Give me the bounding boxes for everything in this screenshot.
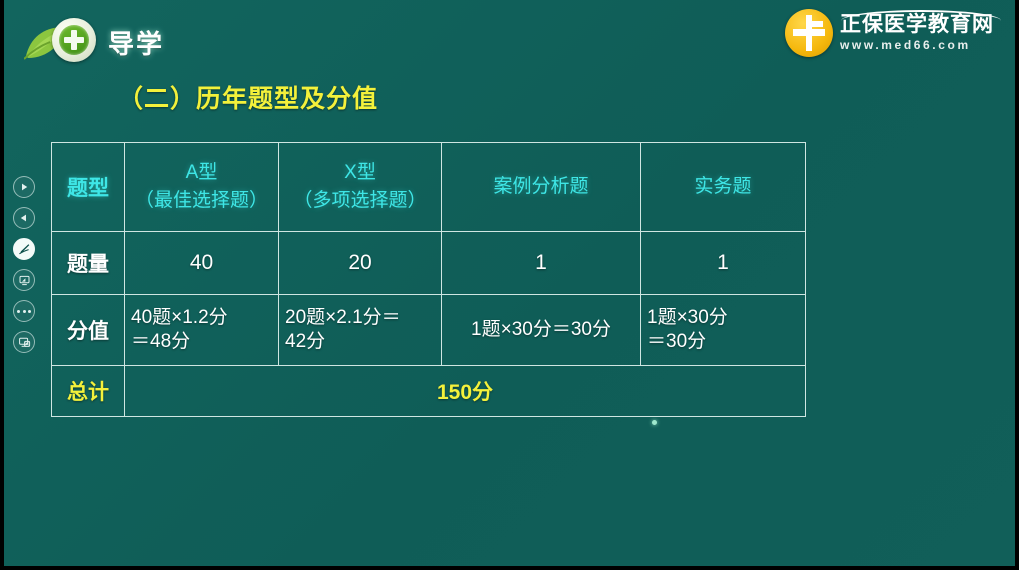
brand-title: 导学 — [108, 24, 164, 61]
header-cell-case-analysis: 案例分析题 — [442, 143, 641, 232]
header-cell-a-type: A型 （最佳选择题） — [125, 143, 279, 232]
screen-icon[interactable] — [13, 269, 35, 291]
header-cell-a-type-line1: A型 — [186, 162, 218, 183]
count-cell-x-type: 20 — [279, 232, 442, 295]
logo-swoosh-decoration — [841, 10, 1001, 25]
row-header-question-count: 题量 — [52, 232, 125, 295]
screen-share-icon[interactable] — [13, 331, 35, 353]
more-icon[interactable] — [13, 300, 35, 322]
slide-canvas: 导学 正保医学教育网 www.med66.com （二）历年题型及分值 题型 A… — [4, 0, 1015, 566]
header-cell-practical-line1: 实务题 — [694, 176, 751, 197]
score-cell-x-type: 20题×2.1分＝ 42分 — [279, 295, 442, 366]
header-cell-x-type-line1: X型 — [344, 162, 376, 183]
table-row-total: 总计 150分 — [52, 366, 806, 417]
row-header-score-value: 分值 — [52, 295, 125, 366]
row-header-total: 总计 — [52, 366, 125, 417]
score-cell-a-type-line2: ＝48分 — [131, 331, 190, 352]
header-cell-x-type-line2: （多项选择题） — [285, 187, 435, 215]
score-cell-x-type-line1: 20题×2.1分＝ — [285, 307, 401, 328]
play-icon[interactable] — [13, 176, 35, 198]
score-cell-a-type: 40题×1.2分 ＝48分 — [125, 295, 279, 366]
logo-url: www.med66.com — [840, 38, 994, 52]
slide-header: 导学 正保医学教育网 www.med66.com — [4, 0, 1015, 68]
row-header-question-type: 题型 — [52, 143, 125, 232]
table-row: 分值 40题×1.2分 ＝48分 20题×2.1分＝ 42分 1题×30分＝30… — [52, 295, 806, 366]
exam-structure-table: 题型 A型 （最佳选择题） X型 （多项选择题） 案例分析题 实务题 题量 — [51, 142, 806, 417]
header-cell-x-type: X型 （多项选择题） — [279, 143, 442, 232]
pen-icon[interactable] — [13, 238, 35, 260]
score-cell-case-analysis: 1题×30分＝30分 — [442, 295, 641, 366]
company-logo: 正保医学教育网 www.med66.com — [785, 4, 1007, 62]
score-cell-x-type-line2: 42分 — [285, 331, 325, 352]
cross-badge-icon — [52, 18, 96, 62]
count-cell-a-type: 40 — [125, 232, 279, 295]
score-cell-practical-line1: 1题×30分 — [647, 307, 728, 328]
gold-cross-circle-icon — [785, 9, 833, 57]
table-row: 题型 A型 （最佳选择题） X型 （多项选择题） 案例分析题 实务题 — [52, 143, 806, 232]
brand-left-group: 导学 — [22, 10, 282, 66]
count-cell-case-analysis: 1 — [442, 232, 641, 295]
total-score-value: 150分 — [125, 366, 806, 417]
table-row: 题量 40 20 1 1 — [52, 232, 806, 295]
score-cell-case-analysis-line1: 1题×30分＝30分 — [471, 319, 611, 340]
header-cell-a-type-line2: （最佳选择题） — [131, 187, 272, 215]
player-toolbar — [7, 176, 41, 353]
count-cell-practical: 1 — [641, 232, 806, 295]
pointer-dot — [652, 420, 657, 425]
header-cell-practical: 实务题 — [641, 143, 806, 232]
page-title: （二）历年题型及分值 — [118, 79, 378, 115]
score-cell-practical-line2: ＝30分 — [647, 331, 706, 352]
score-cell-practical: 1题×30分 ＝30分 — [641, 295, 806, 366]
score-cell-a-type-line1: 40题×1.2分 — [131, 307, 228, 328]
header-cell-case-analysis-line1: 案例分析题 — [493, 176, 588, 197]
previous-icon[interactable] — [13, 207, 35, 229]
